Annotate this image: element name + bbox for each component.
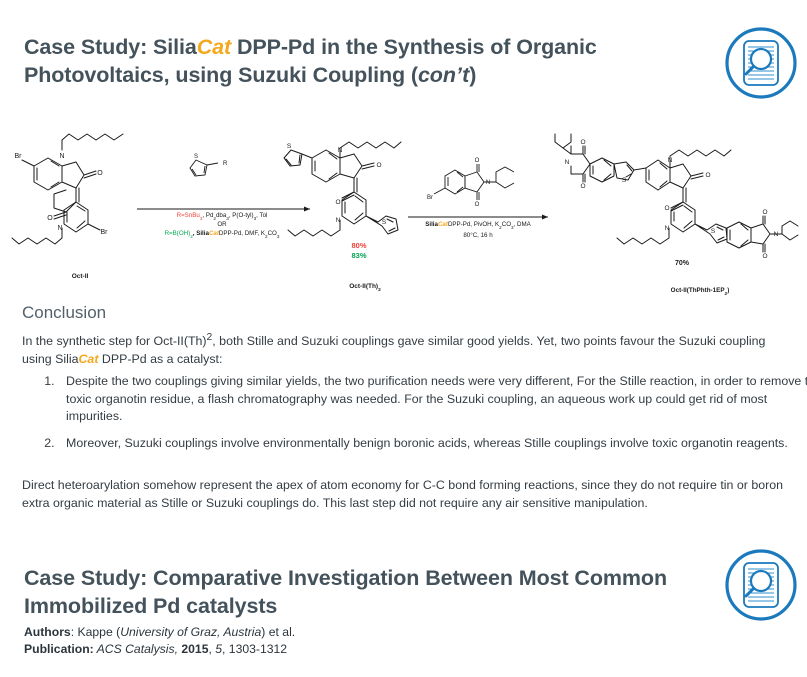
publication-metadata: Authors: Kappe (University of Graz, Aust…	[24, 624, 295, 658]
svg-text:O: O	[705, 172, 710, 179]
slide-page: Case Study: SiliaCat DPP-Pd in the Synth…	[0, 0, 807, 677]
svg-text:S: S	[287, 143, 292, 150]
svg-text:O: O	[376, 162, 381, 169]
thiophene-s-label: S	[194, 154, 198, 160]
svg-text:O: O	[762, 209, 767, 216]
list-item: Moreover, Suzuki couplings involve envir…	[58, 435, 807, 453]
cond1-reagent-red: R=SnBu	[177, 212, 201, 219]
svg-text:O: O	[475, 202, 480, 208]
title-accent-cat: Cat	[197, 35, 231, 59]
svg-text:N: N	[486, 180, 490, 186]
svg-text:S: S	[382, 219, 387, 226]
publication-label: Publication:	[24, 642, 94, 656]
svg-text:N: N	[774, 231, 779, 238]
authors-label: Authors	[24, 625, 71, 639]
authors-sep: : Kappe (	[71, 625, 120, 639]
svg-text:O: O	[335, 199, 340, 206]
svg-text:O: O	[762, 253, 767, 260]
product2-name-label: Oct-II(ThPhth-1EP2)	[671, 287, 730, 297]
svg-text:S: S	[622, 177, 627, 184]
svg-text:O: O	[580, 139, 585, 146]
svg-text:N: N	[565, 159, 570, 166]
conclusion-paragraph-2: Direct heteroarylation somehow represent…	[22, 477, 787, 512]
thiophene-r-label: R	[223, 161, 228, 167]
svg-text:O: O	[475, 158, 480, 164]
yield-stille: 80%	[351, 241, 366, 250]
title-italic-cont: con’t	[418, 63, 469, 87]
document-magnifier-icon	[724, 548, 798, 622]
list-item: Despite the two couplings giving similar…	[58, 373, 807, 426]
reagent2-br-label: Br	[427, 195, 433, 201]
br-label-2: Br	[101, 229, 109, 236]
document-magnifier-icon	[724, 26, 798, 100]
reactant-name-label: Oct-II	[72, 273, 89, 280]
slide-title-2: Case Study: Comparative Investigation Be…	[24, 565, 684, 621]
condition2-line-2: 80°C, 16 h	[463, 232, 493, 239]
condition-line-3: R=B(OH)2, SiliaCatDPP-Pd, DMF, K2CO3	[165, 230, 280, 239]
svg-text:S: S	[711, 228, 716, 235]
conclusion-list: Despite the two couplings giving similar…	[22, 373, 807, 461]
para1-text-a: In the synthetic step for Oct-II(Th)	[22, 334, 207, 348]
br-label-1: Br	[15, 153, 23, 160]
publication-year: 2015	[178, 642, 209, 656]
authors-line: Authors: Kappe (University of Graz, Aust…	[24, 624, 295, 641]
o-label-1: O	[97, 170, 103, 177]
page-title: Case Study: SiliaCat DPP-Pd in the Synth…	[24, 34, 684, 90]
page-title-secondary: Case Study: Comparative Investigation Be…	[24, 565, 684, 621]
svg-text:N: N	[668, 157, 673, 164]
publication-tail-b: , 1303-1312	[222, 642, 287, 656]
conclusion-heading: Conclusion	[22, 303, 106, 323]
svg-text:N: N	[336, 217, 341, 224]
svg-text:N: N	[338, 147, 343, 154]
slide-title-1: Case Study: SiliaCat DPP-Pd in the Synth…	[24, 34, 684, 90]
condition-or-label: OR	[217, 221, 227, 228]
condition-line-1: R=SnBu3, Pd2dba3, P(O-tyl)3, Tol	[177, 212, 268, 221]
condition2-line-1: SiliaCatDPP-Pd, PivOH, K2CO3, DMA	[425, 221, 531, 230]
svg-text:O: O	[580, 183, 585, 190]
para1-text-c: DPP-Pd as a catalyst:	[98, 352, 222, 366]
title-text-a: Case Study: Silia	[24, 35, 197, 59]
title-text-c: )	[469, 63, 476, 87]
authors-tail: ) et al.	[261, 625, 295, 639]
publication-volume: 5	[215, 642, 222, 656]
n-label-2: N	[57, 225, 62, 232]
publication-line: Publication: ACS Catalysis, 2015, 5, 130…	[24, 641, 295, 658]
yield-suzuki: 83%	[351, 251, 366, 260]
svg-text:O: O	[664, 205, 669, 212]
n-label-1: N	[59, 153, 64, 160]
publication-journal: ACS Catalysis,	[94, 642, 178, 656]
conclusion-paragraph-1: In the synthetic step for Oct-II(Th)2, b…	[22, 331, 782, 368]
authors-affiliation: University of Graz, Austria	[120, 625, 261, 639]
o-label-2: O	[47, 215, 53, 222]
svg-text:N: N	[665, 225, 670, 232]
para1-accent-cat: Cat	[78, 352, 98, 366]
reaction-scheme: Br Br N N O O Oct-II S R R=SnBu3, Pd2dba…	[10, 120, 800, 300]
yield-direct: 70%	[675, 260, 690, 267]
product1-name-label: Oct-II(Th)2	[349, 283, 381, 293]
